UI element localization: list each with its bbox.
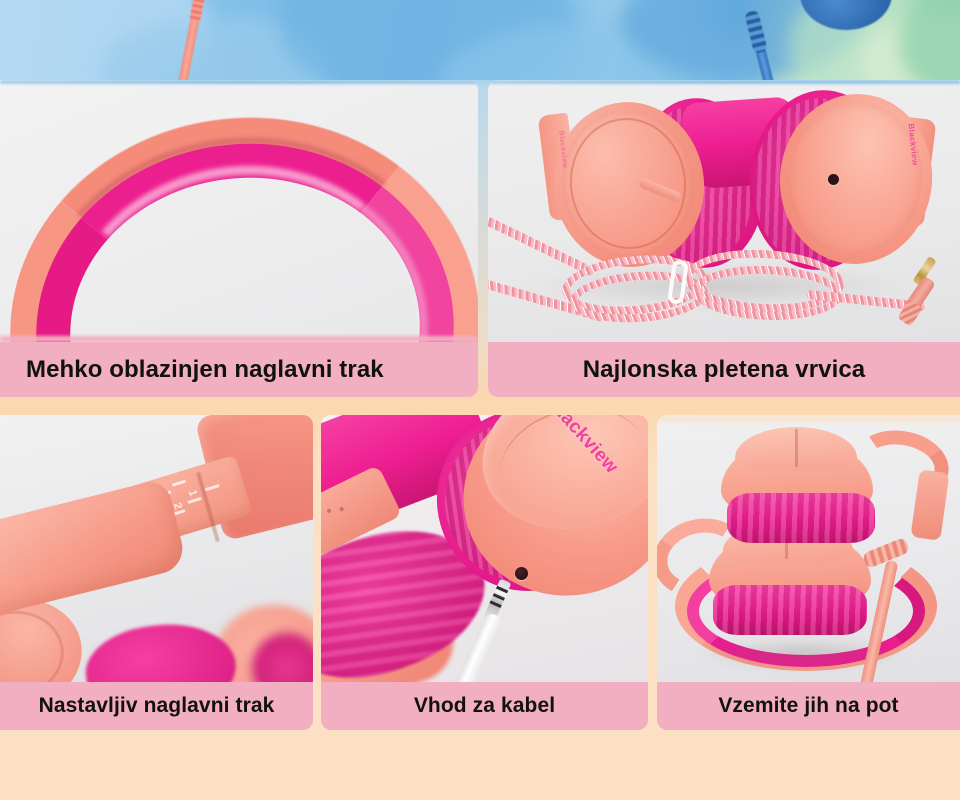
feature-panel-portable-folded: Vzemite jih na pot [657, 415, 960, 730]
panel-caption: Mehko oblazinjen naglavni trak [0, 342, 478, 397]
headband-slider-photo: 1 2 3 4 [0, 415, 313, 682]
panel-caption: Najlonska pletena vrvica [488, 342, 960, 397]
feature-panel-adjustable-headband: 1 2 3 4 Nastavljiv naglavni trak [0, 415, 313, 730]
headband-closeup-photo [0, 80, 478, 342]
headphones-with-cable-photo: Blackview Blackview [488, 80, 960, 342]
photo-top-bleed [0, 80, 478, 84]
top-banner [0, 0, 960, 80]
product-feature-page: Mehko oblazinjen naglavni trak Blackview… [0, 0, 960, 800]
folded-headphones-photo [657, 415, 960, 682]
microphone-port [828, 174, 839, 185]
photo-top-bleed [488, 80, 960, 84]
upper-earcup-seam [795, 429, 798, 467]
feature-panel-padded-headband: Mehko oblazinjen naglavni trak [0, 80, 478, 397]
cable-port-jack-socket [515, 567, 528, 580]
upper-earpad-magenta [727, 493, 875, 543]
feature-panel-cable-port: Blackview Vhod za kabel [321, 415, 648, 730]
lower-headband-arm [0, 478, 188, 620]
photo-top-bleed [657, 415, 960, 422]
magenta-pad-blur [80, 615, 241, 682]
cable-port-photo: Blackview [321, 415, 648, 682]
feature-panel-braided-cable: Blackview Blackview Najlonska pletena vr… [488, 80, 960, 397]
banner-blob [900, 0, 960, 80]
panel-caption: Vhod za kabel [321, 682, 648, 730]
lower-earpad-magenta [713, 585, 867, 635]
slider-mark-1: 1 [186, 489, 199, 498]
panel-caption: Vzemite jih na pot [657, 682, 960, 730]
panel-caption: Nastavljiv naglavni trak [0, 682, 313, 730]
